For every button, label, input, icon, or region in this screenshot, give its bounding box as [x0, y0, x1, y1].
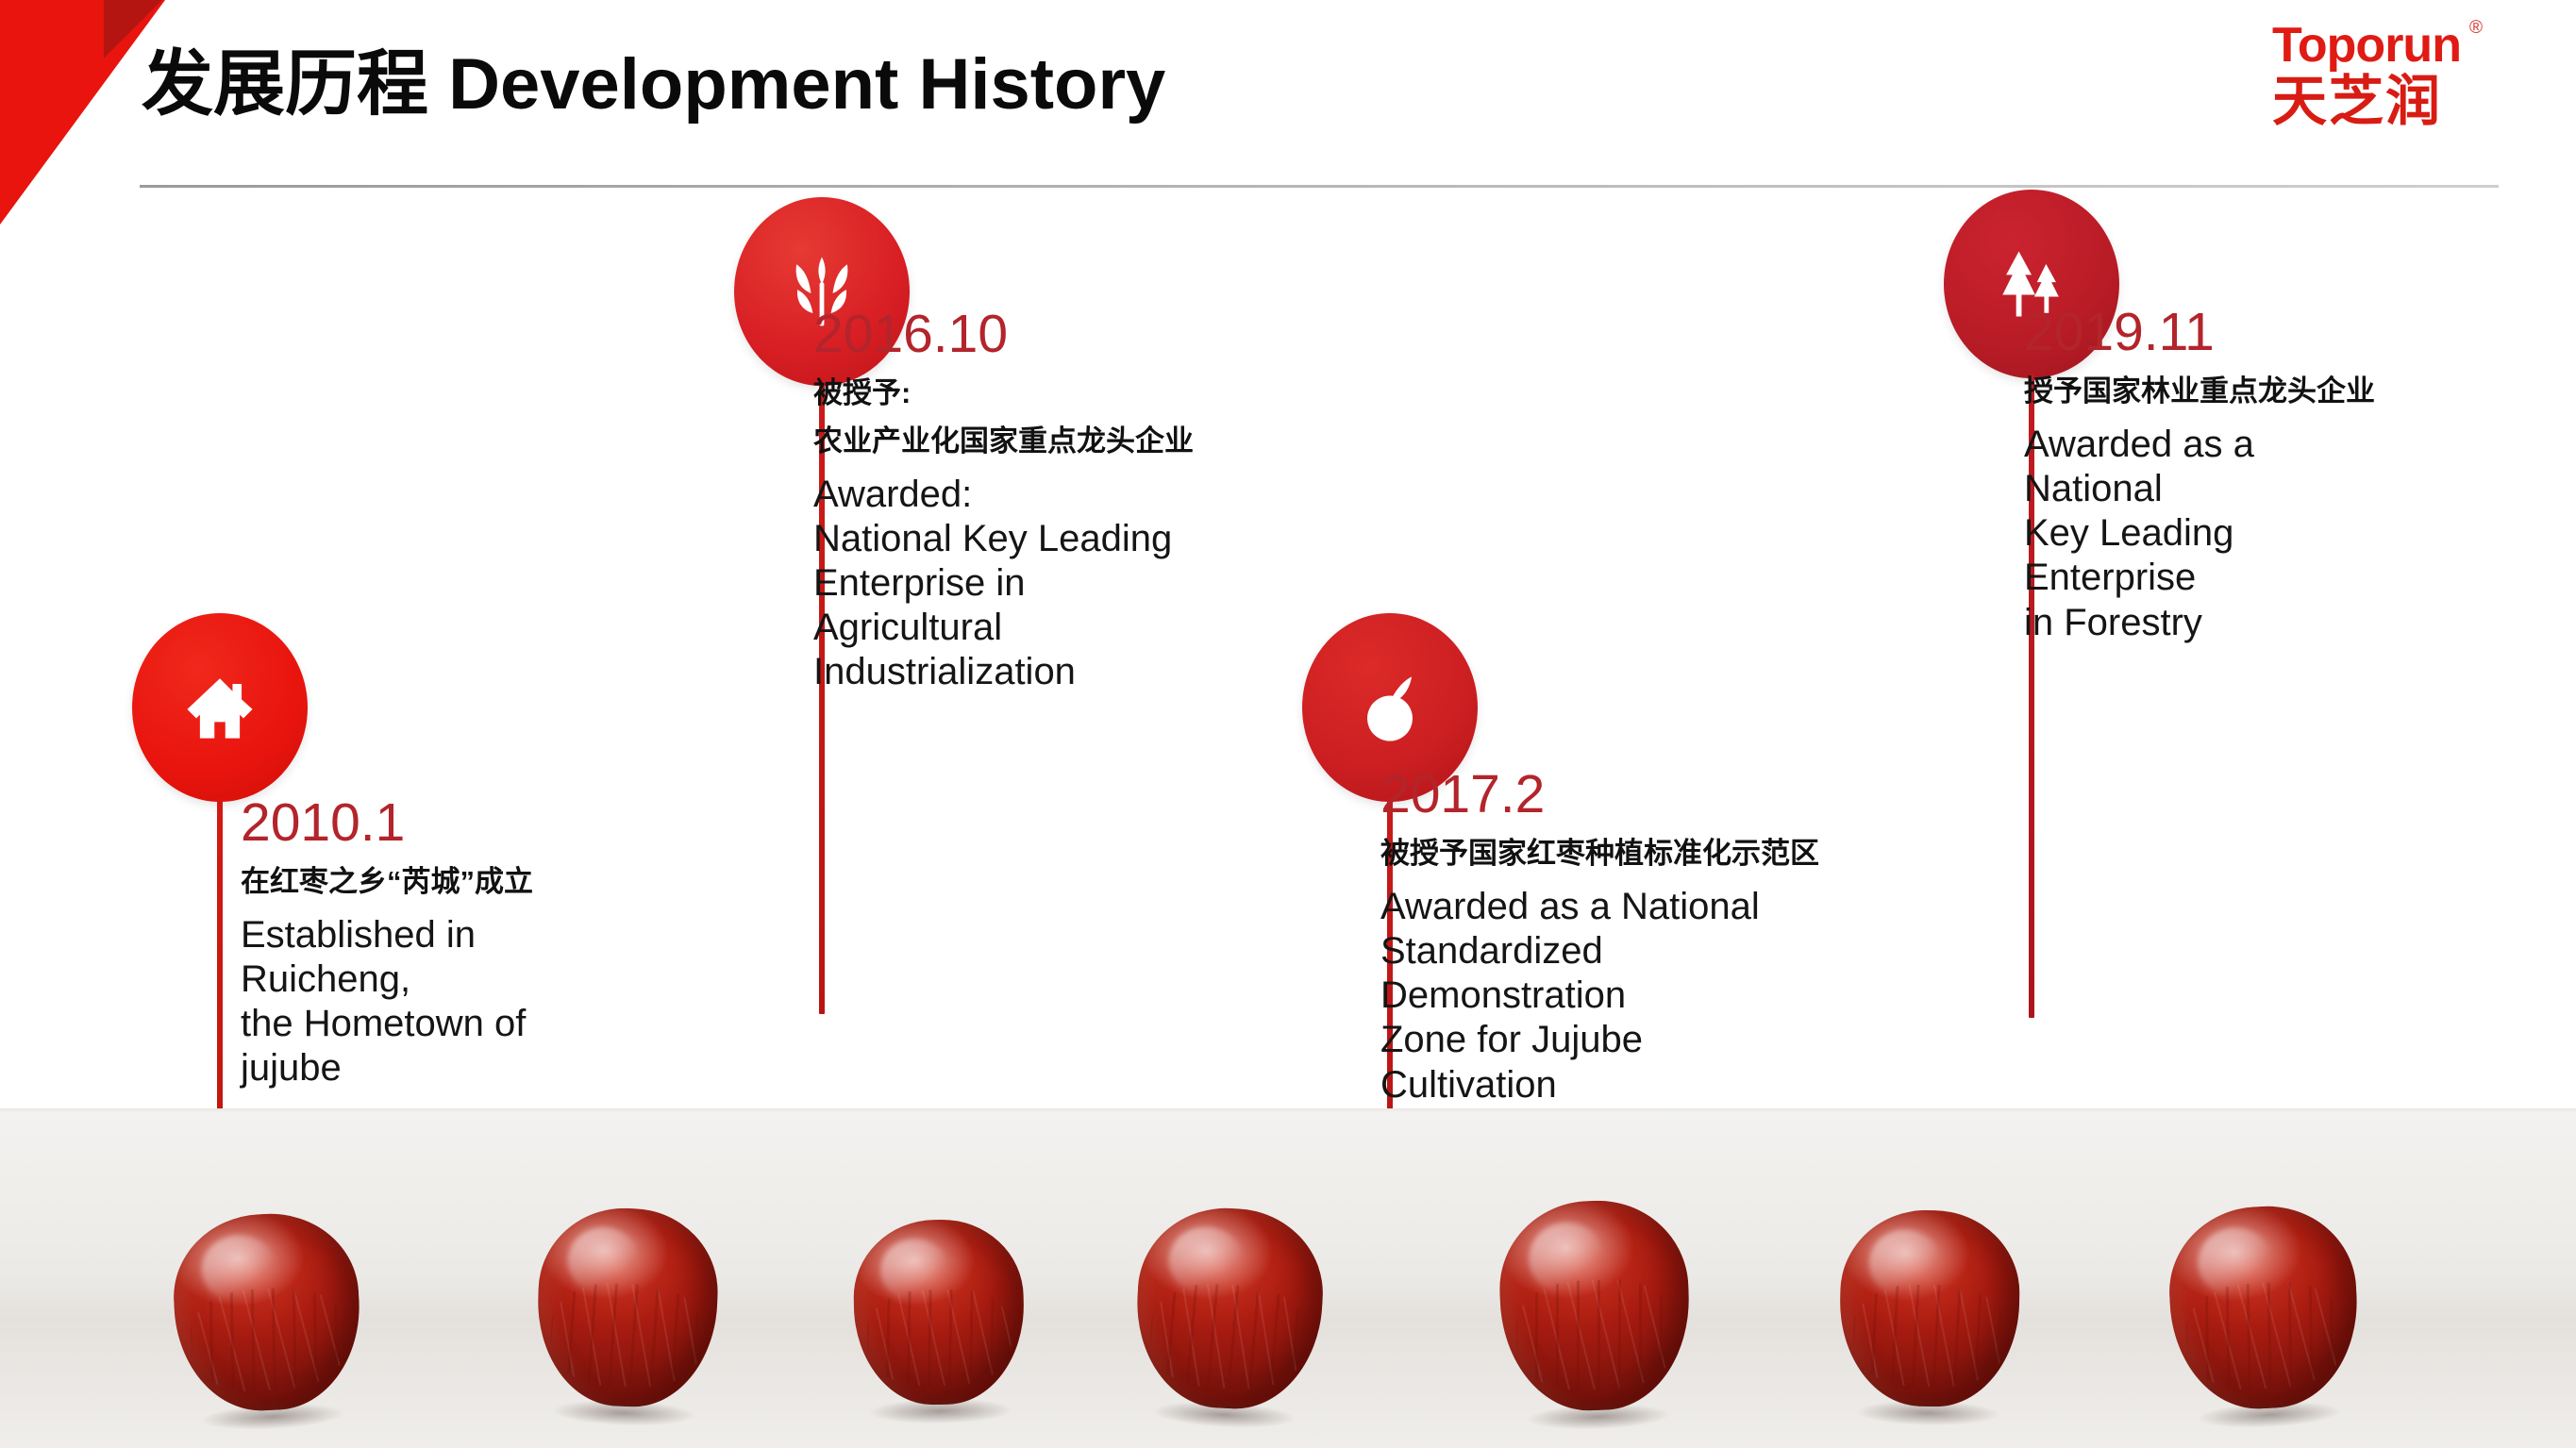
slide-root: 发展历程 Development History Toporun ® 天芝润 [0, 0, 2576, 1448]
jujube-texture [1514, 1277, 1677, 1391]
timeline-entry-2010: 2010.1 在红枣之乡“芮城”成立 Established in Ruiche… [241, 795, 533, 1091]
timeline-cn-2017-line1: 被授予国家红枣种植标准化示范区 [1380, 833, 1819, 875]
timeline-date-2010: 2010.1 [241, 795, 533, 852]
timeline-en-2019: Awarded as a National Key Leading Enterp… [2024, 423, 2375, 645]
logo-wordmark-text: Toporun [2272, 18, 2461, 73]
timeline-entry-2019: 2019.11 授予国家林业重点龙头企业 Awarded as a Nation… [2024, 305, 2375, 645]
page-title: 发展历程 Development History [142, 45, 1165, 125]
timeline-entry-2017: 2017.2 被授予国家红枣种植标准化示范区 Awarded as a Nati… [1380, 767, 1819, 1107]
jujube-fruit-photo [1838, 1208, 2021, 1407]
jujube-fruit-photo [852, 1218, 1025, 1406]
timeline-date-2016: 2016.10 [813, 307, 1194, 363]
timeline-cn-2019-line1: 授予国家林业重点龙头企业 [2024, 371, 2375, 413]
jujube-texture [549, 1281, 703, 1390]
registered-trademark-icon: ® [2469, 19, 2482, 37]
strip-top-shadow [0, 1108, 2576, 1112]
jujube-photo-strip [0, 1108, 2576, 1448]
timeline-date-2019: 2019.11 [2024, 305, 2375, 361]
logo-wordmark-cn: 天芝润 [2272, 74, 2527, 131]
jujube-fruit-photo [2166, 1202, 2363, 1413]
pin-head-home[interactable] [132, 613, 308, 802]
timeline-en-2017: Awarded as a National Standardized Demon… [1380, 885, 1819, 1107]
timeline-entry-2016: 2016.10 被授予: 农业产业化国家重点龙头企业 Awarded: Nati… [813, 307, 1194, 695]
jujube-fruit-photo [1497, 1198, 1693, 1414]
home-icon [175, 662, 265, 753]
timeline-date-2017: 2017.2 [1380, 767, 1819, 824]
timeline: 2010.1 在红枣之乡“芮城”成立 Established in Ruiche… [0, 203, 2576, 1108]
jujube-fruit-photo [1132, 1204, 1328, 1413]
jujube-texture [188, 1285, 348, 1395]
jujube-fruit-photo [170, 1209, 365, 1415]
jujube-texture [1147, 1280, 1308, 1392]
jujube-texture [1853, 1284, 2005, 1389]
timeline-cn-2016-line1: 被授予: [813, 373, 1194, 415]
slide-header: 发展历程 Development History Toporun ® 天芝润 [0, 0, 2576, 203]
jujube-fruit-photo [534, 1206, 720, 1410]
jujube-texture [867, 1289, 1012, 1388]
timeline-cn-2016-line2: 农业产业化国家重点龙头企业 [813, 421, 1194, 463]
timeline-cn-2010-line1: 在红枣之乡“芮城”成立 [241, 861, 533, 904]
timeline-en-2010: Established in Ruicheng, the Hometown of… [241, 913, 533, 1091]
timeline-en-2016: Awarded: National Key Leading Enterprise… [813, 473, 1194, 695]
jujube-texture [2184, 1279, 2347, 1392]
logo-wordmark-en: Toporun ® [2272, 21, 2461, 70]
jujube-fruit-icon [1345, 662, 1435, 753]
brand-logo: Toporun ® 天芝润 [2272, 21, 2527, 162]
title-divider [140, 185, 2499, 188]
